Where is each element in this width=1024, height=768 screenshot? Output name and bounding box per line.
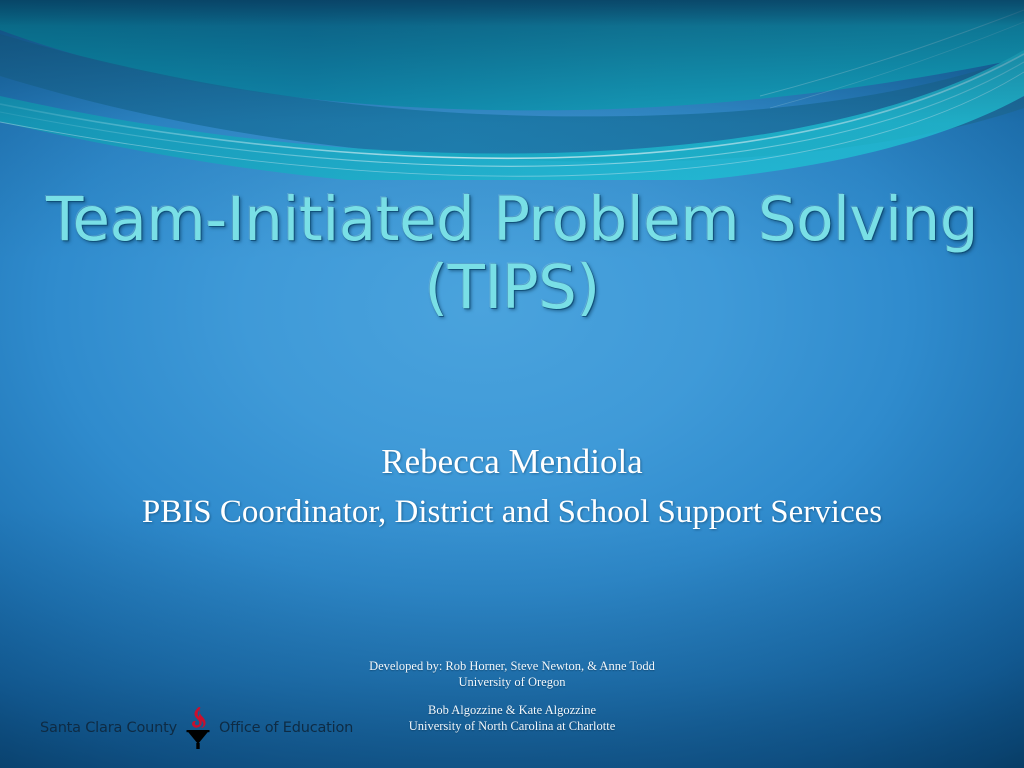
logo-text-right: Office of Education <box>219 720 353 736</box>
title-line-1: Team-Initiated Problem Solving <box>0 186 1024 254</box>
title-line-2: (TIPS) <box>0 254 1024 322</box>
presenter-block: Rebecca Mendiola PBIS Coordinator, Distr… <box>0 437 1024 537</box>
presentation-slide: Team-Initiated Problem Solving (TIPS) Re… <box>0 0 1024 768</box>
scc-office-of-education-logo: Santa Clara County Office of Education <box>40 706 353 750</box>
credits-spacer <box>0 690 1024 703</box>
presenter-name: Rebecca Mendiola <box>0 437 1024 487</box>
presenter-role: PBIS Coordinator, District and School Su… <box>0 487 1024 537</box>
slide-vignette-overlay <box>0 0 1024 768</box>
torch-icon <box>181 706 215 750</box>
credits-university-oregon: University of Oregon <box>0 675 1024 691</box>
logo-text-left: Santa Clara County <box>40 720 177 736</box>
credits-developed-by: Developed by: Rob Horner, Steve Newton, … <box>0 659 1024 675</box>
slide-title: Team-Initiated Problem Solving (TIPS) <box>0 186 1024 322</box>
